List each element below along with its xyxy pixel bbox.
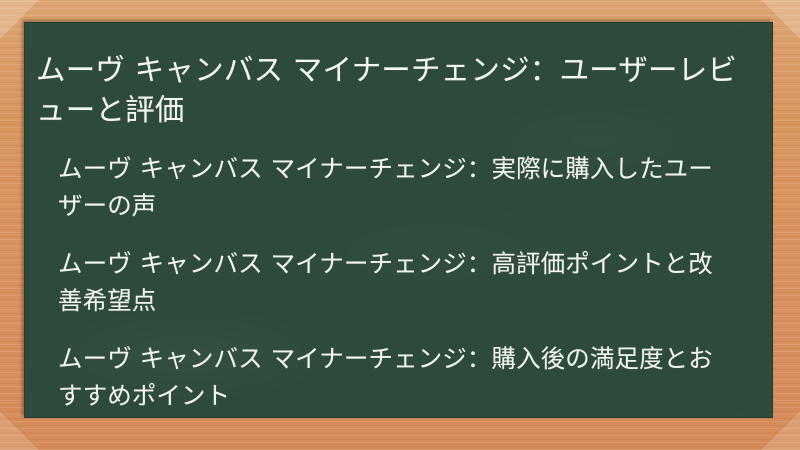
chalkboard-surface: ムーヴ キャンバス マイナーチェンジ：ユーザーレビューと評価 ムーヴ キャンバス… — [24, 22, 773, 418]
chalkboard-wooden-frame: ムーヴ キャンバス マイナーチェンジ：ユーザーレビューと評価 ムーヴ キャンバス… — [0, 0, 800, 450]
page-title: ムーヴ キャンバス マイナーチェンジ：ユーザーレビューと評価 — [36, 50, 752, 130]
list-item: ムーヴ キャンバス マイナーチェンジ：高評価ポイントと改善希望点 — [58, 245, 734, 319]
list-item: ムーヴ キャンバス マイナーチェンジ：購入後の満足度とおすすめポイント — [58, 340, 734, 414]
topic-list: ムーヴ キャンバス マイナーチェンジ：実際に購入したユーザーの声 ムーヴ キャン… — [58, 150, 734, 414]
list-item: ムーヴ キャンバス マイナーチェンジ：実際に購入したユーザーの声 — [58, 150, 734, 224]
